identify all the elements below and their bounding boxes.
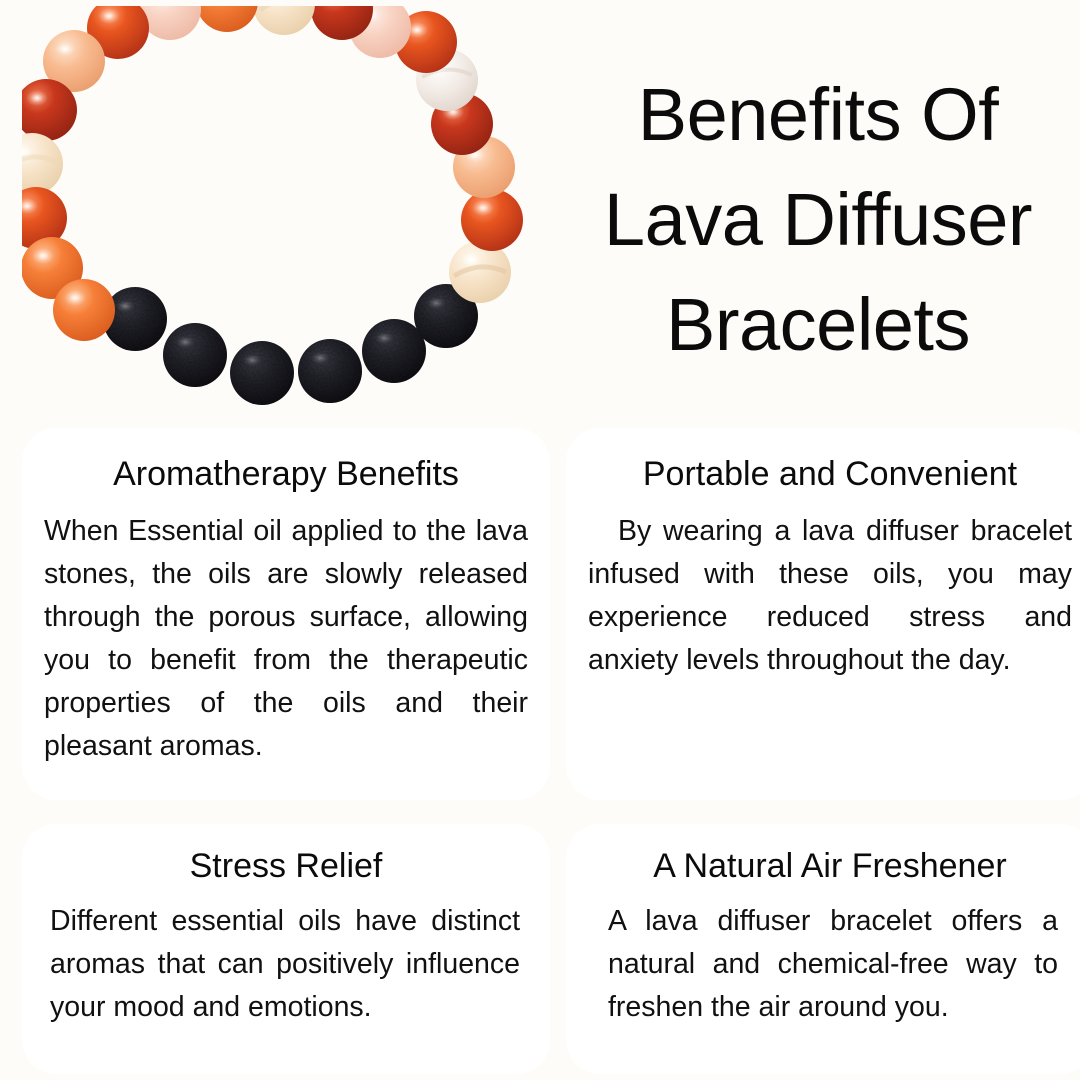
page-title: Benefits Of Lava Diffuser Bracelets — [556, 62, 1080, 377]
benefit-card-natural-air-freshener: A Natural Air Freshener A lava diffuser … — [566, 824, 1080, 1074]
card-body: Different essential oils have distinct a… — [22, 886, 550, 1029]
card-body: By wearing a lava diffuser bracelet infu… — [566, 494, 1080, 682]
bracelet-beads — [22, 6, 523, 405]
card-heading: Stress Relief — [22, 824, 550, 886]
card-heading: Portable and Convenient — [566, 428, 1080, 494]
bracelet-image — [22, 6, 542, 416]
benefit-card-portable-and-convenient: Portable and Convenient By wearing a lav… — [566, 428, 1080, 800]
lava-bead-group — [103, 284, 478, 405]
infographic-page: Benefits Of Lava Diffuser Bracelets Arom… — [0, 0, 1080, 1080]
benefit-card-aromatherapy-benefits: Aromatherapy Benefits When Essential oil… — [22, 428, 550, 800]
title-line-3: Bracelets — [556, 272, 1080, 377]
card-body: A lava diffuser bracelet offers a natura… — [566, 886, 1080, 1029]
card-heading: A Natural Air Freshener — [566, 824, 1080, 886]
title-line-1: Benefits Of — [556, 62, 1080, 167]
benefit-card-grid: Aromatherapy Benefits When Essential oil… — [0, 420, 1080, 1080]
card-body: When Essential oil applied to the lava s… — [22, 494, 550, 768]
benefit-card-stress-relief: Stress Relief Different essential oils h… — [22, 824, 550, 1074]
hero-section: Benefits Of Lava Diffuser Bracelets — [0, 0, 1080, 420]
title-line-2: Lava Diffuser — [556, 167, 1080, 272]
card-heading: Aromatherapy Benefits — [22, 428, 550, 494]
